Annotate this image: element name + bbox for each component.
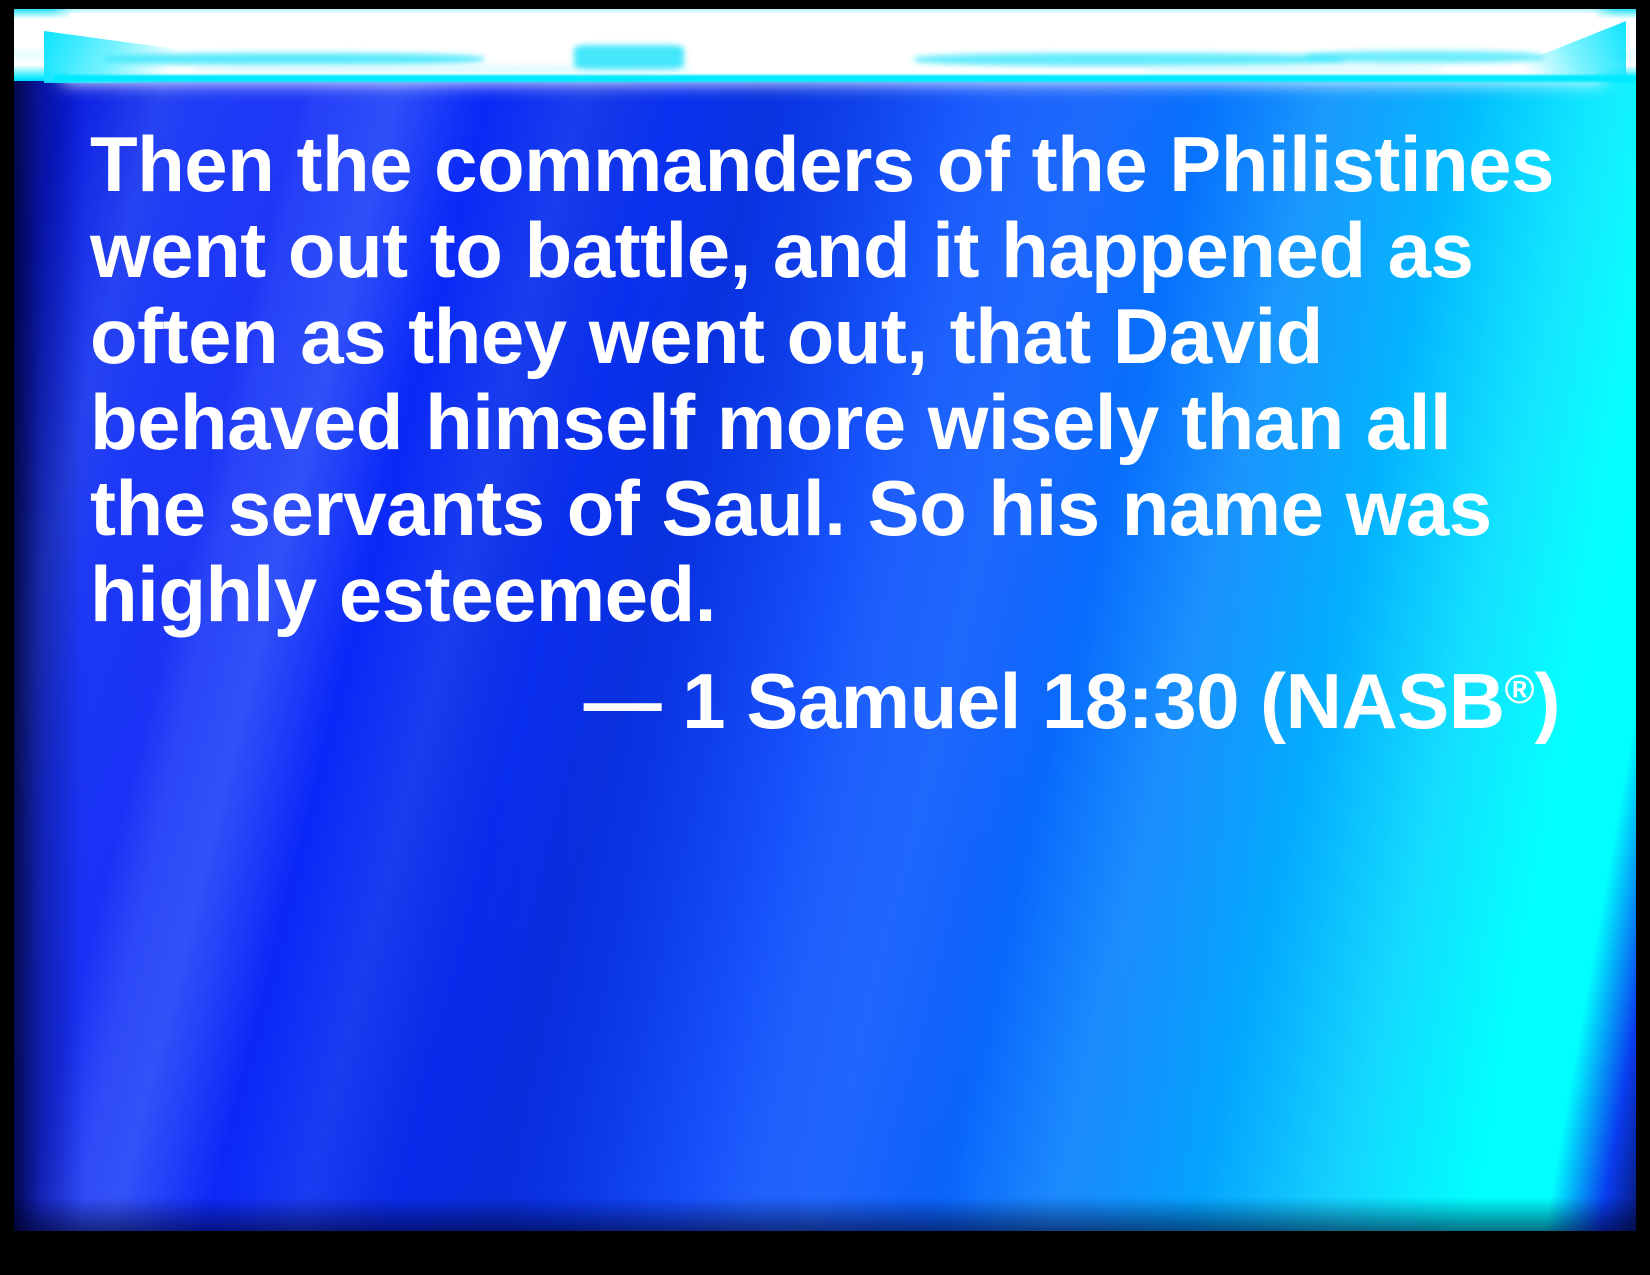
attribution-prefix: — 1 Samuel 18:30 (NASB <box>584 657 1505 745</box>
attribution-suffix: ) <box>1535 657 1560 745</box>
verse-attribution: — 1 Samuel 18:30 (NASB®) <box>90 637 1560 747</box>
verse-block: Then the commanders of the Philistines w… <box>90 121 1560 747</box>
slide-canvas: Then the commanders of the Philistines w… <box>14 9 1636 1231</box>
verse-text: Then the commanders of the Philistines w… <box>90 121 1560 637</box>
registered-trademark-icon: ® <box>1505 666 1535 712</box>
verse-slide: Then the commanders of the Philistines w… <box>0 0 1650 1275</box>
